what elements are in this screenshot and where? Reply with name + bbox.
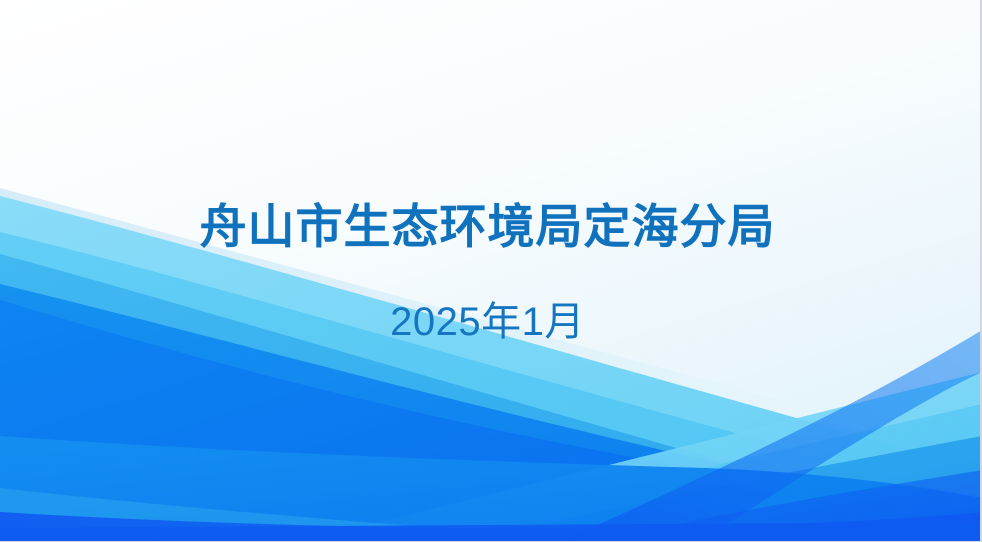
presentation-slide: 舟山市生态环境局定海分局 2025年1月 [0,0,982,542]
slide-text-layer: 舟山市生态环境局定海分局 2025年1月 [0,0,982,542]
slide-title: 舟山市生态环境局定海分局 [0,198,975,256]
slide-subtitle-date: 2025年1月 [0,298,975,346]
